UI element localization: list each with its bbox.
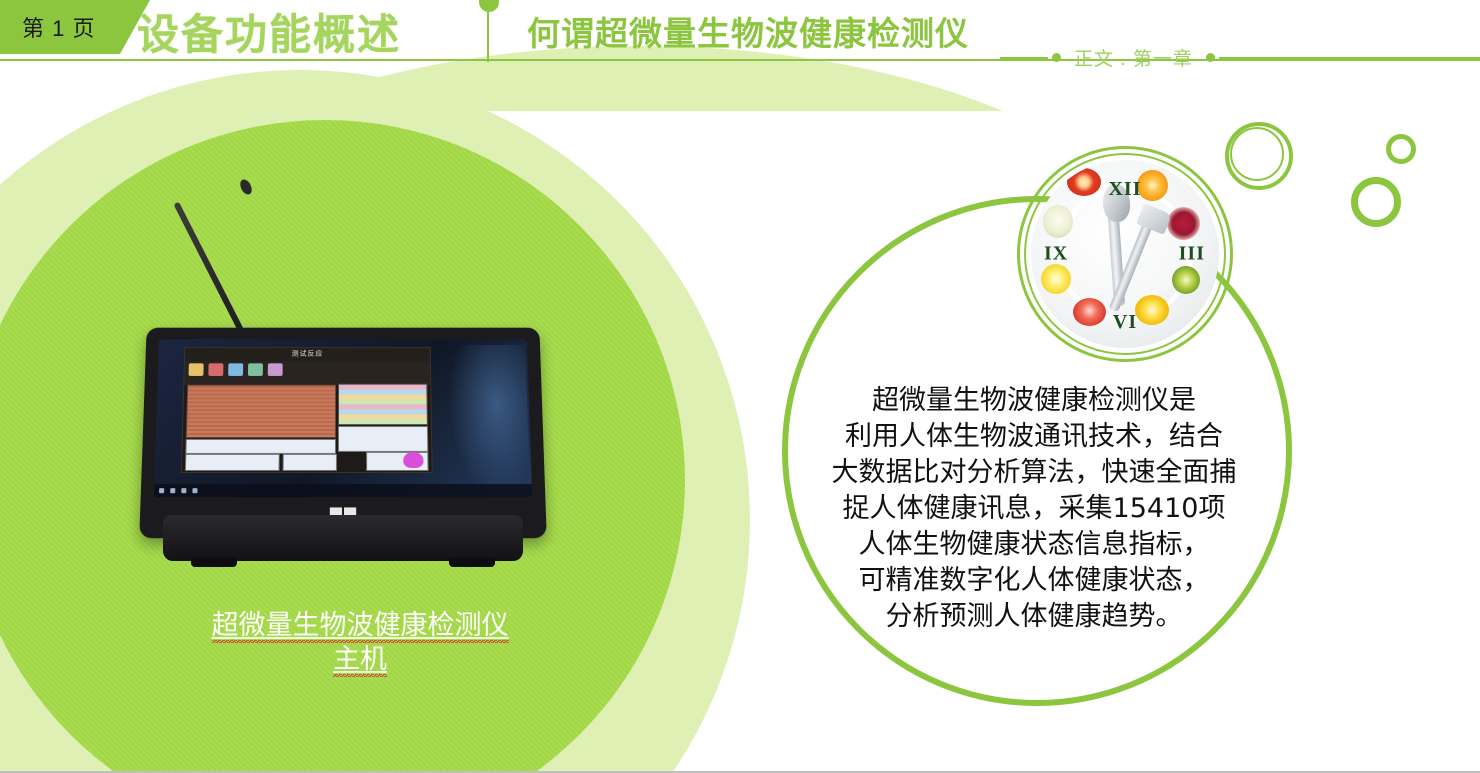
food-pomegranate-icon: [1167, 207, 1200, 240]
chapter-marker: 正文 . 第一章: [1000, 44, 1480, 71]
application-color-table: [338, 384, 428, 425]
taskbar-back-icon: [170, 488, 175, 493]
device-caption-line-2: 主机: [333, 644, 387, 677]
device-foot-right: [449, 558, 495, 567]
food-lemon-icon: [1041, 264, 1071, 294]
chapter-dot-right-icon: [1206, 53, 1215, 62]
application-logo-icon: [403, 452, 423, 468]
clock-face: XII III VI IX: [1031, 160, 1219, 348]
food-clock-image: XII III VI IX: [1017, 146, 1233, 362]
clock-numeral-iii: III: [1179, 243, 1205, 266]
header-pin-stem-divider: [487, 6, 489, 62]
header-pin-dot-icon: [479, 0, 499, 12]
food-red-pepper-icon: [1067, 168, 1101, 196]
taskbar-recent-icon: [192, 488, 197, 493]
slide-header: 第 1 页 设备功能概述 何谓超微量生物波健康检测仪 正文 . 第一章: [0, 0, 1480, 80]
device-antenna-tip: [238, 178, 254, 197]
toolbar-chart-icon: [248, 363, 263, 376]
application-panel-3: [283, 454, 337, 471]
toolbar-folder-icon: [189, 363, 204, 376]
decorative-ring-large-outer-icon: [1225, 122, 1293, 190]
device-photo: 测试反应: [143, 185, 573, 565]
paragraph-line: 人体生物健康状态信息指标，: [800, 527, 1268, 563]
clock-numeral-vi: VI: [1113, 311, 1137, 334]
application-toolbar: [184, 361, 430, 384]
chapter-dot-left-icon: [1052, 53, 1061, 62]
application-panel-2: [185, 454, 280, 471]
clock-numeral-ix: IX: [1044, 243, 1068, 266]
device-foot-left: [191, 558, 237, 567]
paragraph-line: 大数据比对分析算法，快速全面捕: [800, 455, 1268, 491]
chapter-line-right: [1219, 57, 1480, 59]
taskbar-start-icon: [159, 488, 164, 493]
application-window: 测试反应: [181, 347, 433, 473]
application-panel-1: [185, 439, 336, 454]
clock-numeral-xii: XII: [1108, 178, 1141, 201]
paragraph-line: 利用人体生物波通讯技术，结合: [800, 419, 1268, 455]
chapter-line-left: [1000, 57, 1048, 59]
food-kiwi-icon: [1172, 266, 1200, 294]
decorative-ring-small-icon: [1386, 134, 1416, 164]
body-paragraph: 超微量生物波健康检测仪是 利用人体生物波通讯技术，结合 大数据比对分析算法，快速…: [800, 383, 1268, 635]
paragraph-line: 可精准数字化人体健康状态，: [800, 563, 1268, 599]
food-orange-icon: [1137, 170, 1168, 201]
food-apple-icon: [1043, 205, 1073, 238]
device-screen: 测试反应: [154, 339, 532, 497]
taskbar-home-icon: [181, 488, 186, 493]
toolbar-book-icon: [208, 363, 223, 376]
toolbar-window-icon: [228, 363, 243, 376]
windows-taskbar: [154, 484, 532, 497]
food-yellow-pepper-icon: [1135, 295, 1169, 325]
application-title-bar: 测试反应: [185, 348, 430, 362]
page-title: 设备功能概述: [137, 1, 401, 62]
application-panel-4: [338, 426, 428, 452]
wallpaper-glow: [448, 345, 530, 493]
page-number-label: 第 1 页: [0, 11, 95, 43]
food-tomato-icon: [1073, 298, 1106, 326]
slide-canvas: 第 1 页 设备功能概述 何谓超微量生物波健康检测仪 正文 . 第一章 测试反应: [0, 0, 1480, 773]
device-caption-line-1: 超微量生物波健康检测仪: [212, 610, 509, 643]
decorative-ring-medium-icon: [1351, 177, 1401, 227]
paragraph-line: 分析预测人体健康趋势。: [800, 599, 1268, 635]
paragraph-line: 捉人体健康讯息，采集15410项: [800, 491, 1268, 527]
page-subtitle: 何谓超微量生物波健康检测仪: [527, 7, 969, 55]
application-data-grid: [186, 385, 336, 438]
device-stand: [163, 515, 523, 561]
device-caption: 超微量生物波健康检测仪 主机: [115, 608, 605, 676]
toolbar-user-icon: [268, 363, 283, 376]
paragraph-line: 超微量生物波健康检测仪是: [800, 383, 1268, 419]
chapter-label: 正文 . 第一章: [1074, 44, 1193, 71]
decorative-ring-large-inner-icon: [1230, 127, 1284, 181]
page-number-badge: 第 1 页: [0, 0, 150, 54]
device-tablet-body: 测试反应: [139, 328, 547, 538]
